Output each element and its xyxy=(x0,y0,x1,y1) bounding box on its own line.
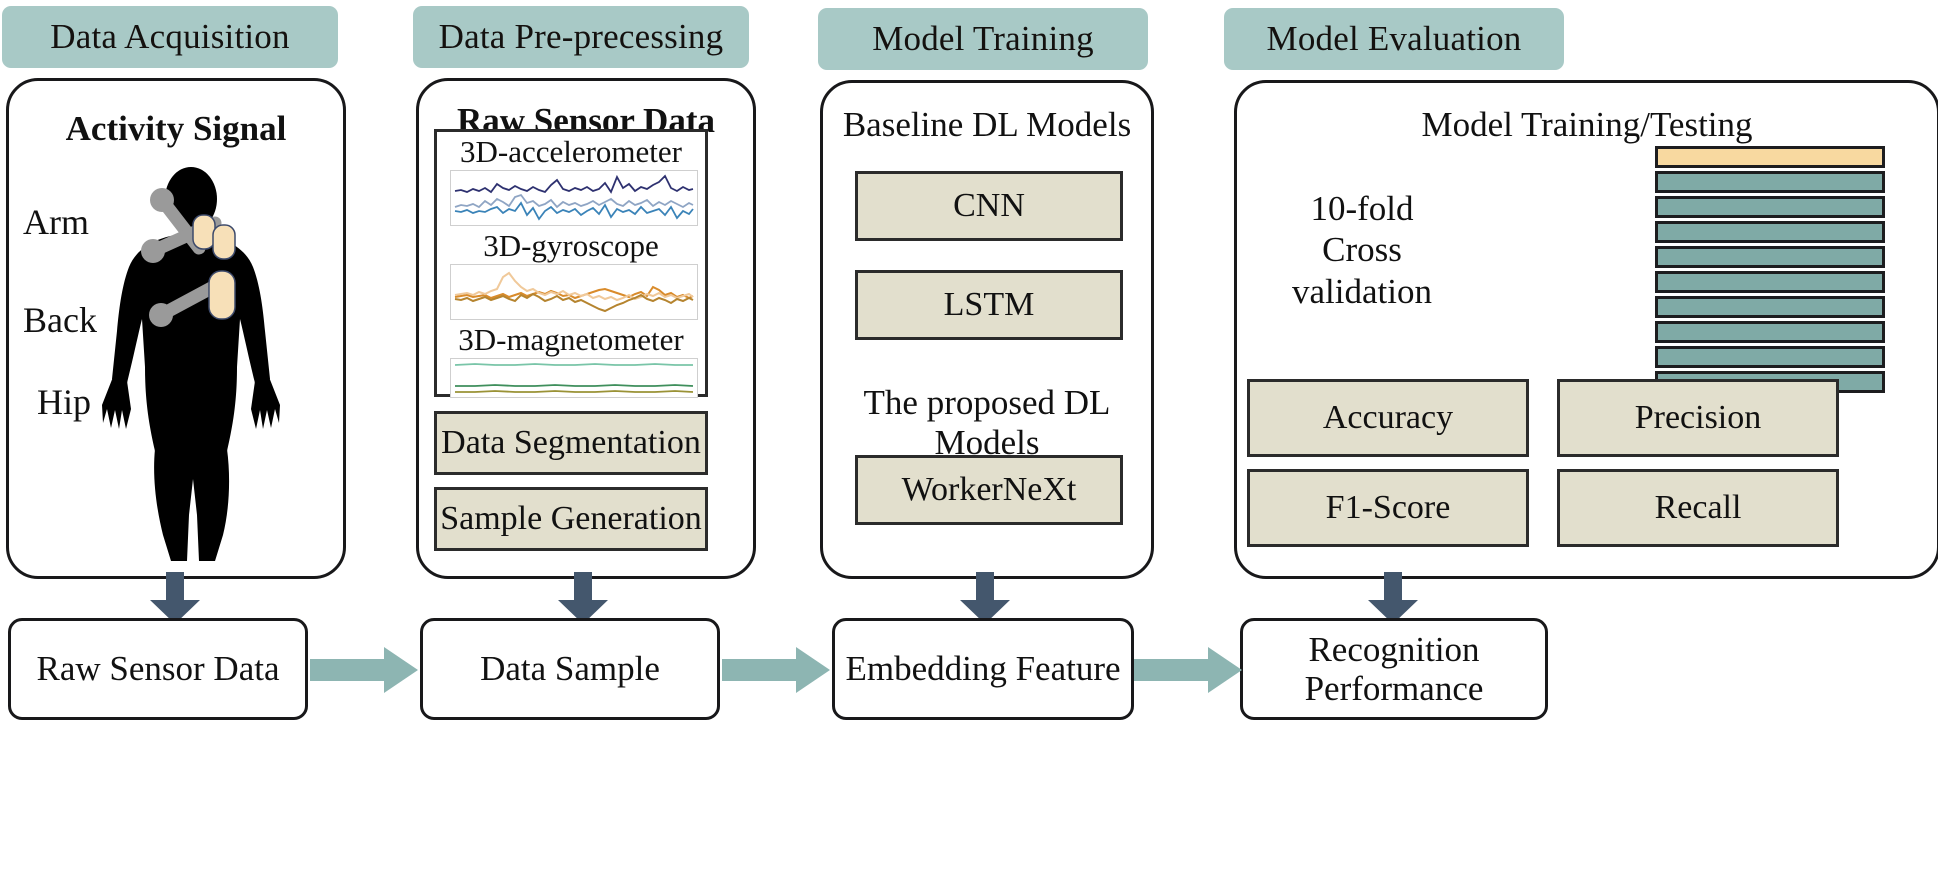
cv-fold-bar-train-2 xyxy=(1655,196,1885,218)
sensor-pad-hip xyxy=(209,271,235,319)
cv-line-2: Cross xyxy=(1247,229,1477,270)
step-box-data-segmentation[interactable]: Data Segmentation xyxy=(434,411,708,475)
metric-box-f1-score[interactable]: F1-Score xyxy=(1247,469,1529,547)
pipeline-diagram: Data Acquisition Data Pre-precessing Mod… xyxy=(0,0,1938,894)
cv-fold-bar-train-4 xyxy=(1655,246,1885,268)
stage-header-model-training: Model Training xyxy=(818,8,1148,70)
sensor-label-accelerometer: 3D-accelerometer xyxy=(437,134,705,170)
cv-fold-bar-train-7 xyxy=(1655,321,1885,343)
magnetometer-plot xyxy=(450,358,698,398)
model-box-lstm[interactable]: LSTM xyxy=(855,270,1123,340)
metric-box-accuracy[interactable]: Accuracy xyxy=(1247,379,1529,457)
panel-data-preprocessing: Raw Sensor Data 3D-accelerometer 3D-gyro… xyxy=(416,78,756,579)
body-label-arm: Arm xyxy=(23,201,89,243)
sensor-pad-back xyxy=(213,225,235,259)
stage-header-model-evaluation: Model Evaluation xyxy=(1224,8,1564,70)
sensor-label-gyroscope: 3D-gyroscope xyxy=(437,228,705,264)
gyroscope-plot xyxy=(450,264,698,320)
cv-fold-bar-test xyxy=(1655,146,1885,168)
body-label-back: Back xyxy=(23,299,97,341)
output-box-raw-sensor-data[interactable]: Raw Sensor Data xyxy=(8,618,308,720)
panel-title-activity-signal: Activity Signal xyxy=(9,109,343,149)
output-box-recognition-performance[interactable]: Recognition Performance xyxy=(1240,618,1548,720)
output-box-embedding-feature[interactable]: Embedding Feature xyxy=(832,618,1134,720)
cv-fold-bar-train-1 xyxy=(1655,171,1885,193)
flow-arrow-preprocessing-to-training xyxy=(722,645,832,695)
flow-arrow-training-to-evaluation xyxy=(1134,645,1244,695)
cv-line-1: 10-fold xyxy=(1247,188,1477,229)
output-line-2: Performance xyxy=(1305,669,1484,708)
output-box-data-sample[interactable]: Data Sample xyxy=(420,618,720,720)
sensor-pad-arm xyxy=(193,215,215,249)
cv-fold-bar-train-6 xyxy=(1655,296,1885,318)
metric-box-recall[interactable]: Recall xyxy=(1557,469,1839,547)
stage-header-data-acquisition: Data Acquisition xyxy=(2,6,338,68)
panel-title-baseline-dl-models: Baseline DL Models xyxy=(823,105,1151,145)
accelerometer-plot xyxy=(450,170,698,226)
metric-box-precision[interactable]: Precision xyxy=(1557,379,1839,457)
cv-line-3: validation xyxy=(1247,271,1477,312)
body-label-hip: Hip xyxy=(37,381,91,423)
panel-subtitle-proposed-dl-models: The proposed DL Models xyxy=(823,383,1151,463)
raw-sensor-data-card: 3D-accelerometer 3D-gyroscope 3D-magneto… xyxy=(434,129,708,397)
panel-title-model-training-testing: Model Training/Testing xyxy=(1237,105,1937,145)
cv-fold-bar-train-5 xyxy=(1655,271,1885,293)
cv-fold-bar-train-3 xyxy=(1655,221,1885,243)
flow-arrow-acquisition-to-preprocessing xyxy=(310,645,420,695)
model-box-workernext[interactable]: WorkerNeXt xyxy=(855,455,1123,525)
panel-model-training: Baseline DL Models CNN LSTM The proposed… xyxy=(820,80,1154,579)
cv-fold-bar-train-8 xyxy=(1655,346,1885,368)
panel-model-evaluation: Model Training/Testing 10-fold Cross val… xyxy=(1234,80,1938,579)
model-box-cnn[interactable]: CNN xyxy=(855,171,1123,241)
panel-data-acquisition: Activity Signal xyxy=(6,78,346,579)
cross-validation-label: 10-fold Cross validation xyxy=(1247,188,1477,312)
stage-header-data-preprocessing: Data Pre-precessing xyxy=(413,6,749,68)
output-line-1: Recognition xyxy=(1308,630,1479,669)
sensor-label-magnetometer: 3D-magnetometer xyxy=(437,322,705,358)
step-box-sample-generation[interactable]: Sample Generation xyxy=(434,487,708,551)
